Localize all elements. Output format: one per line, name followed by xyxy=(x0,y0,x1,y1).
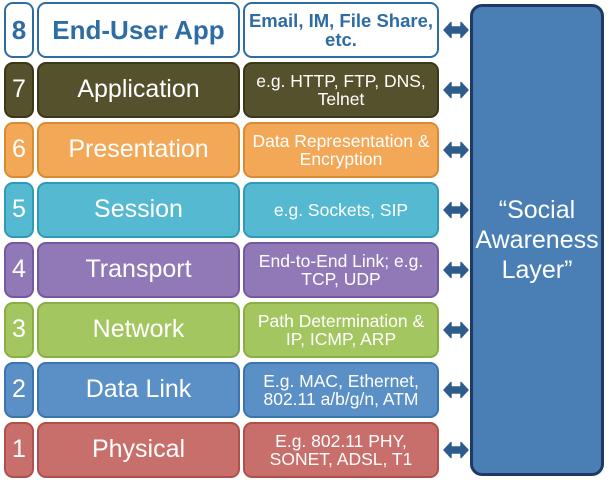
layer-name-cell: Session xyxy=(37,182,240,238)
layer-row: 4TransportEnd-to-End Link; e.g. TCP, UDP xyxy=(0,242,470,298)
layer-description-cell: E.g. 802.11 PHY, SONET, ADSL, T1 xyxy=(243,422,439,478)
double-arrow-icon xyxy=(443,319,469,341)
layer-connector-slot xyxy=(439,242,473,298)
layer-description-cell: e.g. HTTP, FTP, DNS, Telnet xyxy=(243,62,439,118)
layer-number-cell: 7 xyxy=(4,62,34,118)
layer-name-cell: Presentation xyxy=(37,122,240,178)
layer-connector-slot xyxy=(439,122,473,178)
layer-number-cell: 8 xyxy=(4,2,34,58)
osi-layer-diagram: 8End-User AppEmail, IM, File Share, etc.… xyxy=(0,0,609,480)
double-arrow-icon xyxy=(443,379,469,401)
layer-number-cell: 1 xyxy=(4,422,34,478)
layer-name-cell: Data Link xyxy=(37,362,240,418)
social-awareness-layer-label: “Social Awareness Layer” xyxy=(469,195,604,285)
layer-description-cell: Email, IM, File Share, etc. xyxy=(243,2,439,58)
layer-name-cell: Physical xyxy=(37,422,240,478)
layer-connector-slot xyxy=(439,2,473,58)
layer-connector-slot xyxy=(439,422,473,478)
layer-connector-slot xyxy=(439,362,473,418)
layer-connector-slot xyxy=(439,182,473,238)
layer-row: 5Sessione.g. Sockets, SIP xyxy=(0,182,470,238)
layer-row: 2Data LinkE.g. MAC, Ethernet, 802.11 a/b… xyxy=(0,362,470,418)
layer-row: 3NetworkPath Determination & IP, ICMP, A… xyxy=(0,302,470,358)
layer-description-cell: End-to-End Link; e.g. TCP, UDP xyxy=(243,242,439,298)
layer-name-cell: Network xyxy=(37,302,240,358)
double-arrow-icon xyxy=(443,19,469,41)
double-arrow-icon xyxy=(443,199,469,221)
double-arrow-icon xyxy=(443,139,469,161)
layer-description-cell: Data Representation & Encryption xyxy=(243,122,439,178)
double-arrow-icon xyxy=(443,259,469,281)
layer-description-cell: Path Determination & IP, ICMP, ARP xyxy=(243,302,439,358)
layer-name-cell: Application xyxy=(37,62,240,118)
double-arrow-icon xyxy=(443,439,469,461)
layer-name-cell: Transport xyxy=(37,242,240,298)
layer-row: 1PhysicalE.g. 802.11 PHY, SONET, ADSL, T… xyxy=(0,422,470,478)
layer-description-cell: e.g. Sockets, SIP xyxy=(243,182,439,238)
layer-number-cell: 6 xyxy=(4,122,34,178)
layer-description-cell: E.g. MAC, Ethernet, 802.11 a/b/g/n, ATM xyxy=(243,362,439,418)
layer-number-cell: 2 xyxy=(4,362,34,418)
double-arrow-icon xyxy=(443,79,469,101)
social-awareness-layer-panel: “Social Awareness Layer” xyxy=(470,4,604,476)
layer-row: 6PresentationData Representation & Encry… xyxy=(0,122,470,178)
layer-number-cell: 4 xyxy=(4,242,34,298)
layer-stack: 8End-User AppEmail, IM, File Share, etc.… xyxy=(0,0,470,480)
layer-connector-slot xyxy=(439,62,473,118)
layer-row: 8End-User AppEmail, IM, File Share, etc. xyxy=(0,2,470,58)
layer-connector-slot xyxy=(439,302,473,358)
layer-number-cell: 3 xyxy=(4,302,34,358)
layer-name-cell: End-User App xyxy=(37,2,240,58)
layer-number-cell: 5 xyxy=(4,182,34,238)
layer-row: 7Applicatione.g. HTTP, FTP, DNS, Telnet xyxy=(0,62,470,118)
